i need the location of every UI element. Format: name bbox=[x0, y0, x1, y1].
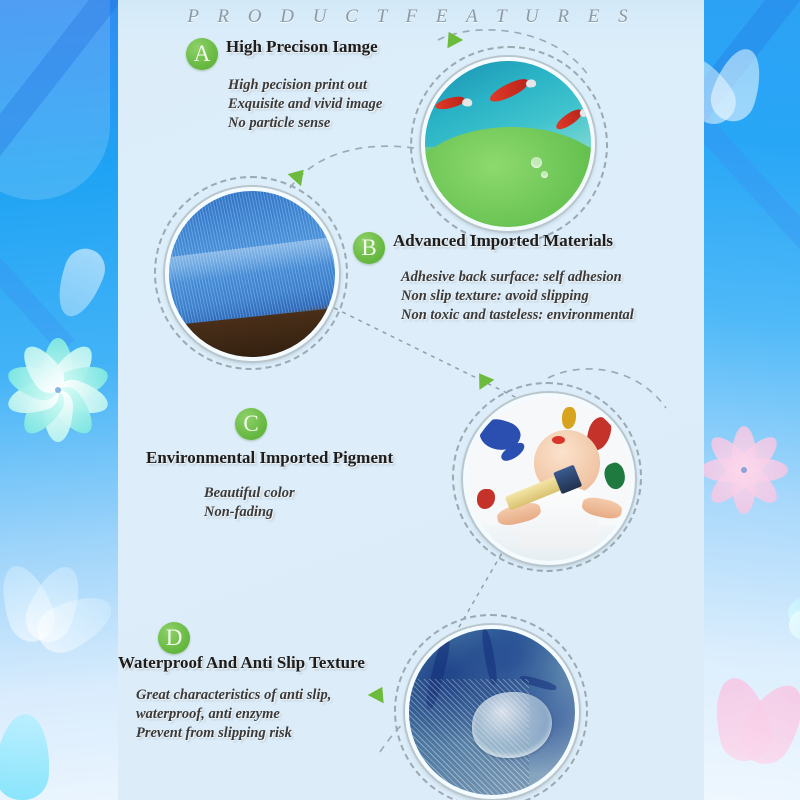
feature-line: Non slip texture: avoid slipping bbox=[401, 287, 634, 306]
feature-line: waterproof, anti enzyme bbox=[136, 705, 331, 724]
feature-line: Prevent from slipping risk bbox=[136, 724, 331, 743]
feature-line: High pecision print out bbox=[228, 76, 382, 95]
feature-line: Great characteristics of anti slip, bbox=[136, 686, 331, 705]
arrow-marker-c bbox=[472, 368, 495, 390]
feature-lines-b: Adhesive back surface: self adhesion Non… bbox=[401, 268, 634, 325]
arrow-marker-a bbox=[441, 28, 463, 49]
page-title: P R O D U C T F E A T U R E S bbox=[118, 6, 704, 28]
paint-splatter bbox=[562, 407, 576, 429]
feature-photo-c bbox=[463, 393, 635, 565]
dashed-arc-b bbox=[290, 146, 414, 188]
feature-badge-a: A bbox=[186, 38, 218, 70]
right-decoration-band bbox=[704, 0, 800, 800]
infographic-canvas: P R O D U C T F E A T U R E S A High Pre… bbox=[0, 0, 800, 800]
left-decoration-band bbox=[0, 0, 118, 800]
photo-d-inner bbox=[409, 629, 575, 795]
feature-photo-d bbox=[405, 625, 579, 799]
lily-pad bbox=[425, 127, 591, 227]
arrow-marker-d bbox=[368, 683, 390, 704]
water-droplet bbox=[541, 171, 548, 178]
paint-splatter bbox=[477, 489, 495, 509]
feature-line: Adhesive back surface: self adhesion bbox=[401, 268, 634, 287]
feature-line: No particle sense bbox=[228, 114, 382, 133]
feature-line: Non toxic and tasteless: environmental bbox=[401, 306, 634, 325]
flower-core bbox=[55, 387, 61, 393]
feature-title-a: High Precison Iamge bbox=[226, 37, 378, 57]
feature-title-b: Advanced Imported Materials bbox=[393, 231, 613, 251]
photo-a-inner bbox=[425, 61, 591, 227]
feature-line: Exquisite and vivid image bbox=[228, 95, 382, 114]
feature-photo-a bbox=[421, 57, 595, 231]
arrow-marker-b bbox=[288, 164, 311, 186]
feature-lines-a: High pecision print out Exquisite and vi… bbox=[228, 76, 382, 133]
feature-lines-c: Beautiful color Non-fading bbox=[204, 484, 295, 522]
feature-badge-d: D bbox=[158, 622, 190, 654]
feature-photo-b bbox=[165, 187, 339, 361]
feature-line: Beautiful color bbox=[204, 484, 295, 503]
content-panel: P R O D U C T F E A T U R E S A High Pre… bbox=[118, 0, 704, 800]
photo-b-inner bbox=[169, 191, 335, 357]
flower-core bbox=[741, 467, 747, 473]
feature-lines-d: Great characteristics of anti slip, wate… bbox=[136, 686, 331, 743]
feature-badge-c: C bbox=[235, 408, 267, 440]
feature-line: Non-fading bbox=[204, 503, 295, 522]
feature-title-c: Environmental Imported Pigment bbox=[146, 448, 393, 468]
feature-badge-b: B bbox=[353, 232, 385, 264]
photo-c-inner bbox=[467, 397, 631, 561]
paint-splatter bbox=[601, 460, 629, 491]
feature-title-d: Waterproof And Anti Slip Texture bbox=[118, 653, 365, 673]
